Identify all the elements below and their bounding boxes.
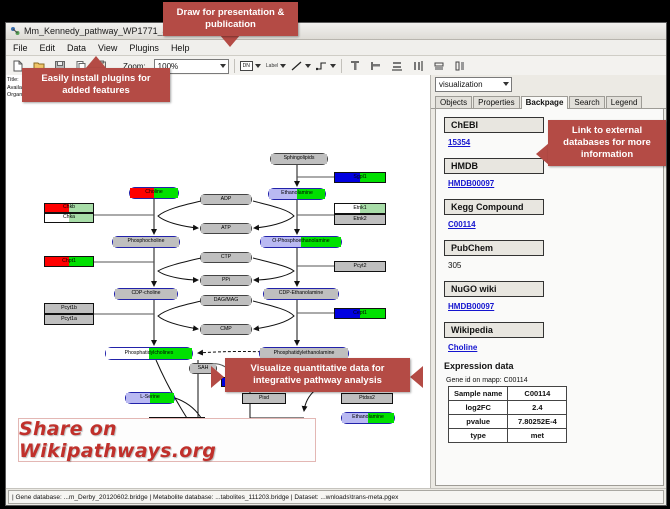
metabolite-node-ppi[interactable]: PPi xyxy=(200,275,252,286)
table-row: log2FC 2.4 xyxy=(449,401,567,415)
row-label: type xyxy=(449,429,508,443)
chevron-down-icon[interactable] xyxy=(280,64,286,68)
node-label: Phosphatidylcholines xyxy=(125,351,174,356)
metabolite-node-atp[interactable]: ATP xyxy=(200,223,252,234)
gene-node-ptdss2[interactable]: Ptdss2 xyxy=(341,393,393,404)
menu-bar: File Edit Data View Plugins Help xyxy=(6,40,666,56)
node-label: Sgpl1 xyxy=(353,175,366,180)
gene-node-pcyt1b[interactable]: Pcyt1b xyxy=(44,303,94,314)
node-label: Choline xyxy=(145,190,163,195)
node-label: ATP xyxy=(221,226,231,231)
tab-objects[interactable]: Objects xyxy=(435,96,472,108)
node-label: Ptdss2 xyxy=(359,396,375,401)
metabolite-node-choline-top[interactable]: Choline xyxy=(129,187,179,199)
gene-node-chpt1[interactable]: Chpt1 xyxy=(44,256,94,267)
metabolite-node-l-serine-left[interactable]: L-Serine xyxy=(125,392,175,404)
kegg-compound-link[interactable]: C00114 xyxy=(448,220,655,229)
distribute-vertical-icon[interactable] xyxy=(389,58,405,74)
node-label: Pcyt1a xyxy=(61,317,77,322)
distribute-horizontal-icon[interactable] xyxy=(410,58,426,74)
nugo-wiki-link[interactable]: HMDB00097 xyxy=(448,302,655,311)
node-label: Chka xyxy=(63,215,75,220)
node-label: L-Serine xyxy=(140,395,160,400)
row-label: Sample name xyxy=(449,387,508,401)
share-callout-text: Share on Wikipathways.org xyxy=(19,418,315,462)
gene-node-etnk2[interactable]: Etnk2 xyxy=(334,214,386,225)
menu-help[interactable]: Help xyxy=(169,43,192,53)
chevron-down-icon[interactable] xyxy=(255,64,261,68)
node-label: Chkb xyxy=(63,205,75,210)
screenshot-root: Mm_Kennedy_pathway_WP1771_45176.gpml Fil… xyxy=(0,0,670,509)
node-label: DAG/MAG xyxy=(214,298,239,303)
node-label: Sphingolipids xyxy=(284,156,315,161)
metabolite-node-cdp-ethanolamine[interactable]: CDP-Ethanolamine xyxy=(263,288,339,300)
chevron-down-icon[interactable] xyxy=(305,64,311,68)
table-row: type met xyxy=(449,429,567,443)
diagonal-line-icon xyxy=(291,61,303,71)
row-value: met xyxy=(508,429,567,443)
row-value: 7.80252E-4 xyxy=(508,415,567,429)
node-label: CDP-choline xyxy=(131,291,160,296)
chevron-down-icon[interactable] xyxy=(330,64,336,68)
chevron-down-icon[interactable] xyxy=(503,82,509,86)
visualization-value: visualization xyxy=(439,80,483,89)
visualize-callout-pointer-right xyxy=(410,366,423,388)
links-callout: Link to external databases for more info… xyxy=(548,120,666,166)
side-panel-tabs: Objects Properties Backpage Search Legen… xyxy=(431,93,666,109)
gene-node-pcyt1a[interactable]: Pcyt1a xyxy=(44,314,94,325)
tab-search[interactable]: Search xyxy=(569,96,604,108)
metabolite-node-cmp[interactable]: CMP xyxy=(200,324,252,335)
row-label: pvalue xyxy=(449,415,508,429)
status-bar: | Gene database: ...m_Derby_20120602.bri… xyxy=(6,488,666,505)
hmdb-header: HMDB xyxy=(444,158,544,174)
node-label: PPi xyxy=(222,278,230,283)
same-width-icon[interactable] xyxy=(431,58,447,74)
chevron-down-icon[interactable] xyxy=(220,64,226,68)
wikipedia-header: Wikipedia xyxy=(444,322,544,338)
node-label: Etnk2 xyxy=(353,217,366,222)
node-label: O-Phosphoethanolamine xyxy=(272,239,329,244)
label-dropdown[interactable]: Label xyxy=(266,63,286,69)
table-row: Sample name C00114 xyxy=(449,387,567,401)
title-bar: Mm_Kennedy_pathway_WP1771_45176.gpml xyxy=(6,23,666,40)
node-label: Ethanolamine xyxy=(281,191,313,196)
node-label: Chpt1 xyxy=(62,259,76,264)
node-label: ADP xyxy=(221,197,232,202)
tab-legend[interactable]: Legend xyxy=(606,96,643,108)
row-value: 2.4 xyxy=(508,401,567,415)
row-label: log2FC xyxy=(449,401,508,415)
row-value: C00114 xyxy=(508,387,567,401)
gene-node-sgpl1[interactable]: Sgpl1 xyxy=(334,172,386,183)
visualize-callout: Visualize quantitative data for integrat… xyxy=(225,358,410,392)
gene-node-chka[interactable]: Chka xyxy=(44,213,94,223)
menu-view[interactable]: View xyxy=(96,43,119,53)
hmdb-link[interactable]: HMDB00097 xyxy=(448,179,655,188)
metabolite-node-dagmag[interactable]: DAG/MAG xyxy=(200,295,252,306)
line-dropdown[interactable] xyxy=(291,61,311,71)
align-left-icon[interactable] xyxy=(368,58,384,74)
node-label: Pisd xyxy=(259,396,269,401)
nugo-wiki-header: NuGO wiki xyxy=(444,281,544,297)
node-label: Phosphatidylethanolamine xyxy=(274,351,335,356)
gene-node-chkb[interactable]: Chkb xyxy=(44,203,94,213)
share-callout: Share on Wikipathways.org xyxy=(18,418,316,462)
table-row: pvalue 7.80252E-4 xyxy=(449,415,567,429)
metabolite-node-ethanolamine[interactable]: Ethanolamine xyxy=(268,188,326,200)
pubchem-value: 305 xyxy=(448,261,655,270)
node-label: CTP xyxy=(221,255,231,260)
menu-plugins[interactable]: Plugins xyxy=(127,43,161,53)
visualization-row: visualization xyxy=(431,75,666,93)
metabolite-node-phosphatidylcholines[interactable]: Phosphatidylcholines xyxy=(105,347,193,360)
gene-node-etnk1[interactable]: Etnk1 xyxy=(334,203,386,214)
visualization-dropdown[interactable]: visualization xyxy=(435,77,512,92)
gene-node-pisd[interactable]: Pisd xyxy=(242,393,286,404)
metabolite-node-adp[interactable]: ADP xyxy=(200,194,252,205)
connector-dropdown[interactable] xyxy=(316,61,336,71)
toolbar-separator xyxy=(341,59,342,73)
gene-id-line: Gene id on mapp: C00114 xyxy=(446,377,655,384)
metabolite-node-ctp[interactable]: CTP xyxy=(200,252,252,263)
status-text: | Gene database: ...m_Derby_20120602.bri… xyxy=(8,490,664,504)
chebi-header: ChEBI xyxy=(444,117,544,133)
metabolite-node-o-phosphoethanolamine[interactable]: O-Phosphoethanolamine xyxy=(260,236,342,248)
gene-node-cept1[interactable]: Cept1 xyxy=(334,308,386,319)
pathvisio-icon xyxy=(10,26,20,36)
expression-table: Sample name C00114 log2FC 2.4 pvalue 7.8… xyxy=(448,386,567,443)
node-label: Ethanolamine xyxy=(352,415,384,420)
metabolite-node-ethanolamine-bottom[interactable]: Ethanolamine xyxy=(341,412,395,424)
datanode-dropdown[interactable]: DN xyxy=(240,61,261,71)
pubchem-header: PubChem xyxy=(444,240,544,256)
node-label: SAH xyxy=(198,366,209,371)
kegg-compound-header: Kegg Compound xyxy=(444,199,544,215)
node-label: Cept1 xyxy=(353,311,367,316)
menu-file[interactable]: File xyxy=(11,43,30,53)
node-label: CMP xyxy=(220,327,232,332)
metabolite-node-phosphocholine[interactable]: Phosphocholine xyxy=(112,236,180,248)
wikipedia-link[interactable]: Choline xyxy=(448,343,655,352)
menu-edit[interactable]: Edit xyxy=(38,43,58,53)
node-label: Etnk1 xyxy=(353,206,366,211)
elbow-connector-icon xyxy=(316,61,328,71)
node-label: Pcyt1b xyxy=(61,306,77,311)
node-label: CDP-Ethanolamine xyxy=(279,291,323,296)
gene-node-pcyt2[interactable]: Pcyt2 xyxy=(334,261,386,272)
align-top-icon[interactable] xyxy=(347,58,363,74)
toolbar-separator xyxy=(234,59,235,73)
visualize-callout-pointer-left xyxy=(211,366,224,388)
node-label: Phosphocholine xyxy=(128,239,165,244)
expression-data-title: Expression data xyxy=(444,361,655,371)
plugins-callout: Easily install plugins for added feature… xyxy=(22,68,170,102)
metabolite-node-sphingolipids[interactable]: Sphingolipids xyxy=(270,153,328,165)
tab-properties[interactable]: Properties xyxy=(473,96,519,108)
menu-data[interactable]: Data xyxy=(65,43,88,53)
node-label: Pcyt2 xyxy=(354,264,367,269)
tab-backpage[interactable]: Backpage xyxy=(521,96,569,109)
metabolite-node-cdp-choline[interactable]: CDP-choline xyxy=(114,288,178,300)
same-height-icon[interactable] xyxy=(452,58,468,74)
draw-callout: Draw for presentation & publication xyxy=(163,2,298,36)
